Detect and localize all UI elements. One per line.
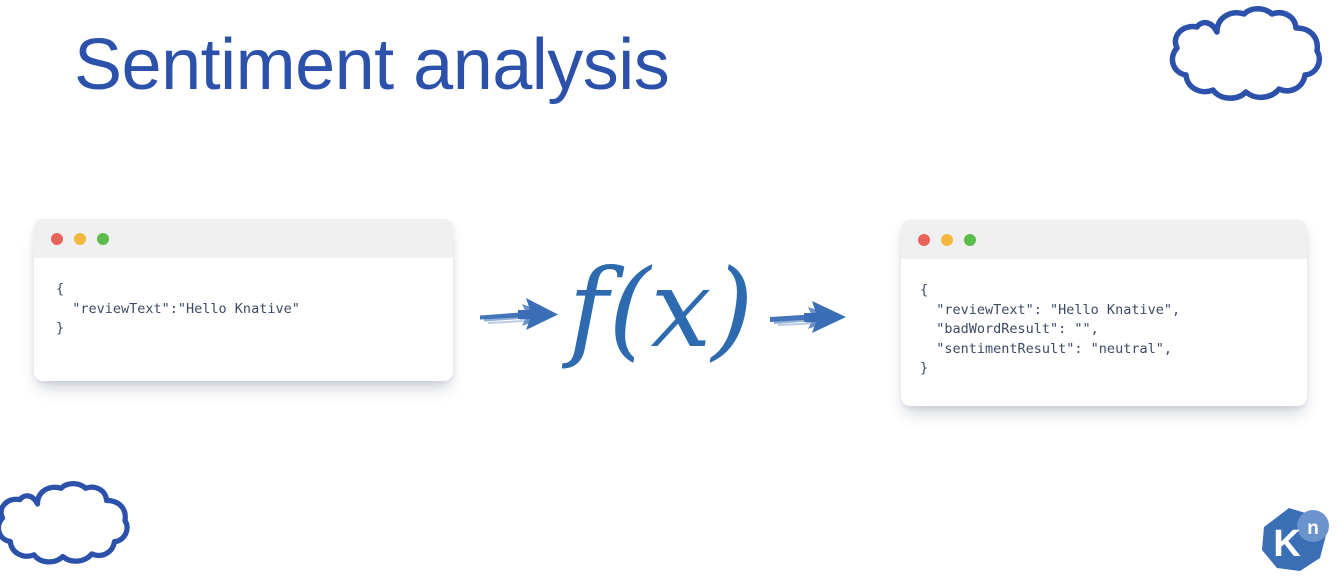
input-code-body: { "reviewText":"Hello Knative" } <box>34 258 453 381</box>
page-title: Sentiment analysis <box>74 26 669 105</box>
code-line: "badWordResult": "", <box>901 320 1307 340</box>
code-line: "sentimentResult": "neutral", <box>901 340 1307 360</box>
knative-primary-letter: K <box>1273 523 1301 565</box>
flow-arrow-right-icon <box>768 298 858 343</box>
minimize-icon[interactable] <box>941 234 953 246</box>
input-json-window[interactable]: { "reviewText":"Hello Knative" } <box>34 219 453 381</box>
code-line: } <box>34 319 453 339</box>
cloud-icon-bottom-left <box>0 480 132 575</box>
close-icon[interactable] <box>918 234 930 246</box>
window-titlebar[interactable] <box>901 220 1307 259</box>
code-line: { <box>901 281 1307 301</box>
code-line: } <box>901 359 1307 379</box>
minimize-icon[interactable] <box>74 233 86 245</box>
cloud-icon-top-right <box>1165 6 1325 111</box>
flow-arrow-left-icon <box>478 292 564 341</box>
maximize-icon[interactable] <box>964 234 976 246</box>
output-code-body: { "reviewText": "Hello Knative", "badWor… <box>901 259 1307 406</box>
output-json-window[interactable]: { "reviewText": "Hello Knative", "badWor… <box>901 220 1307 406</box>
code-line: "reviewText": "Hello Knative", <box>901 301 1307 321</box>
window-titlebar[interactable] <box>34 219 453 258</box>
knative-logo: K n <box>1256 506 1332 580</box>
maximize-icon[interactable] <box>97 233 109 245</box>
code-line: { <box>34 280 453 300</box>
transform-function-label: f(x) <box>566 245 756 375</box>
code-line: "reviewText":"Hello Knative" <box>34 300 453 320</box>
close-icon[interactable] <box>51 233 63 245</box>
knative-badge-letter: n <box>1307 518 1319 539</box>
